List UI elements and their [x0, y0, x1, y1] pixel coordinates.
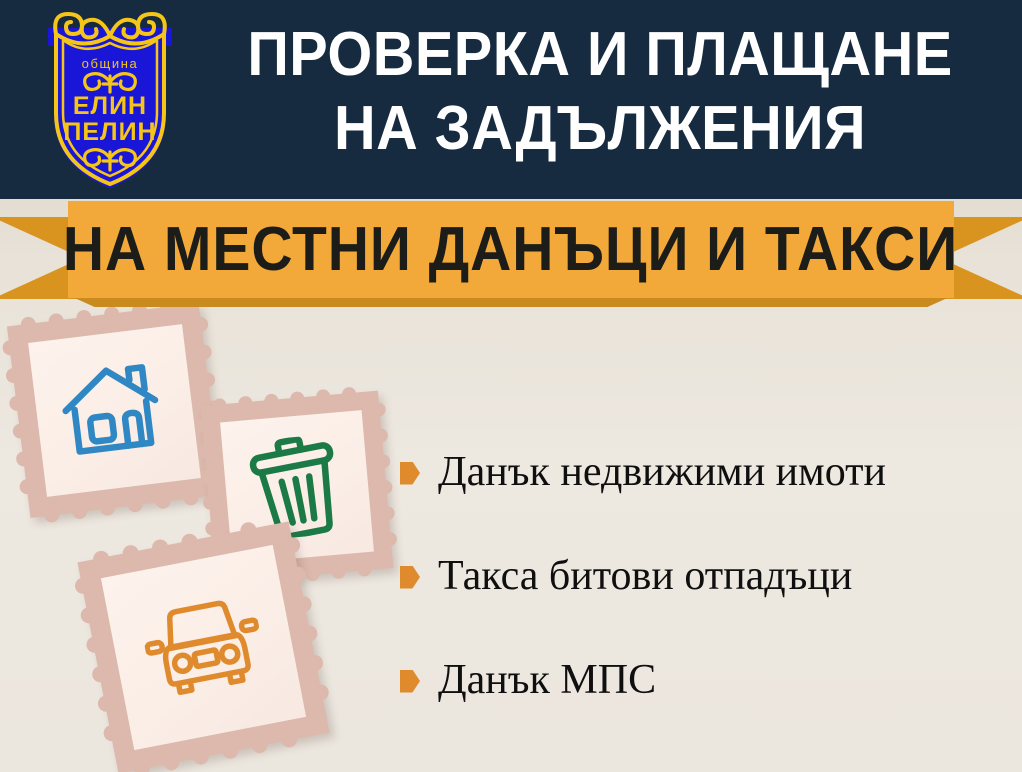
stamp-card-house: [7, 303, 222, 518]
page-title-line-1: ПРОВЕРКА И ПЛАЩАНЕ: [219, 18, 982, 92]
stamp-card-car: [77, 521, 329, 772]
poster-canvas: община ЕЛИН ПЕЛИН: [0, 0, 1022, 772]
list-item[interactable]: Данък недвижими имоти: [400, 420, 1010, 524]
page-title-line-2: НА ЗАДЪЛЖЕНИЯ: [219, 92, 982, 166]
svg-text:ПЕЛИН: ПЕЛИН: [63, 118, 156, 146]
trash-can-icon: [246, 433, 348, 541]
list-item[interactable]: Данък МПС: [400, 628, 1010, 732]
tax-type-list: Данък недвижими имоти Такса битови отпад…: [400, 420, 1010, 732]
car-front-icon: [138, 591, 269, 703]
coat-of-arms-icon: община ЕЛИН ПЕЛИН: [30, 6, 190, 192]
bullet-arrow-icon: [400, 670, 420, 693]
bullet-arrow-icon: [400, 566, 420, 589]
list-item-label: Данък недвижими имоти: [438, 449, 886, 495]
poster-header: община ЕЛИН ПЕЛИН: [0, 0, 1022, 199]
list-item-label: Данък МПС: [438, 657, 656, 703]
stamp-paper: [28, 324, 201, 497]
svg-text:община: община: [82, 56, 139, 71]
subtitle-ribbon: НА МЕСТНИ ДАНЪЦИ И ТАКСИ: [0, 199, 1022, 307]
bullet-arrow-icon: [400, 462, 420, 485]
ribbon-label: НА МЕСТНИ ДАНЪЦИ И ТАКСИ: [63, 218, 958, 282]
house-icon: [55, 356, 174, 464]
stamp-card-group: [0, 300, 420, 772]
list-item[interactable]: Такса битови отпадъци: [400, 524, 1010, 628]
stamp-paper: [101, 545, 306, 750]
header-title-block: ПРОВЕРКА И ПЛАЩАНЕ НА ЗАДЪЛЖЕНИЯ: [190, 18, 1010, 166]
list-item-label: Такса битови отпадъци: [438, 553, 852, 599]
ribbon-banner: НА МЕСТНИ ДАНЪЦИ И ТАКСИ: [68, 201, 954, 298]
svg-text:ЕЛИН: ЕЛИН: [73, 92, 147, 120]
